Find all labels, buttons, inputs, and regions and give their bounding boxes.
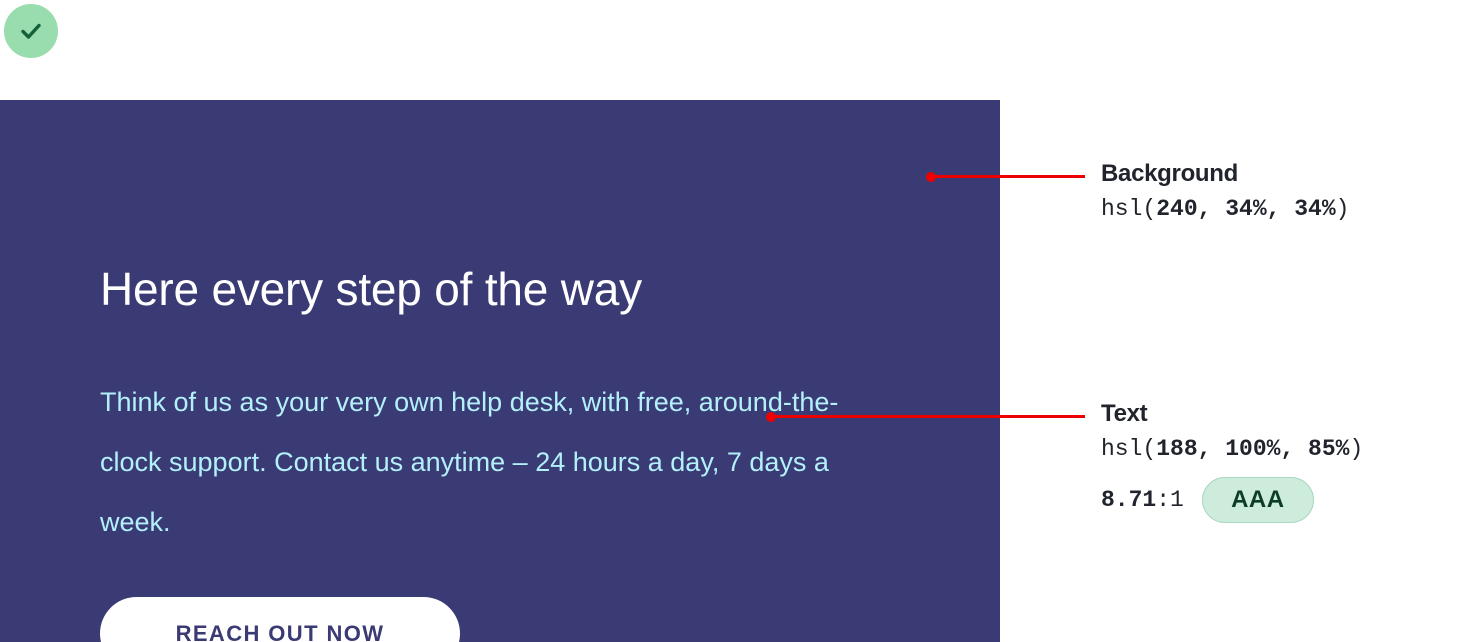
hsl-suffix: ) [1349,436,1363,462]
leader-line-background [930,175,1085,178]
status-badge: AAA [1202,477,1314,523]
annotation-background: Background hsl(240, 34%, 34%) [1101,159,1349,223]
annotation-background-title: Background [1101,159,1349,189]
hsl-prefix: hsl( [1101,196,1156,222]
contrast-ratio-row: 8.71:1 AAA [1101,477,1363,523]
contrast-ratio-suffix: :1 [1156,487,1184,513]
leader-line-text [770,415,1085,418]
hsl-suffix: ) [1336,196,1350,222]
hero-body-text: Think of us as your very own help desk, … [100,372,860,552]
hsl-prefix: hsl( [1101,436,1156,462]
annotation-text-title: Text [1101,399,1363,429]
page-title: Here every step of the way [100,266,642,312]
hsl-values: 188, 100%, 85% [1156,436,1349,462]
contrast-ratio: 8.71:1 [1101,487,1184,513]
status-check-badge [4,4,58,58]
contrast-ratio-number: 8.71 [1101,487,1156,513]
hsl-values: 240, 34%, 34% [1156,196,1335,222]
reach-out-now-button[interactable]: REACH OUT NOW [100,597,460,642]
check-icon [16,16,46,46]
hero-panel: Here every step of the way Think of us a… [0,100,1000,642]
annotation-background-value: hsl(240, 34%, 34%) [1101,195,1349,223]
annotation-text: Text hsl(188, 100%, 85%) 8.71:1 AAA [1101,399,1363,523]
annotation-text-value: hsl(188, 100%, 85%) [1101,435,1363,463]
